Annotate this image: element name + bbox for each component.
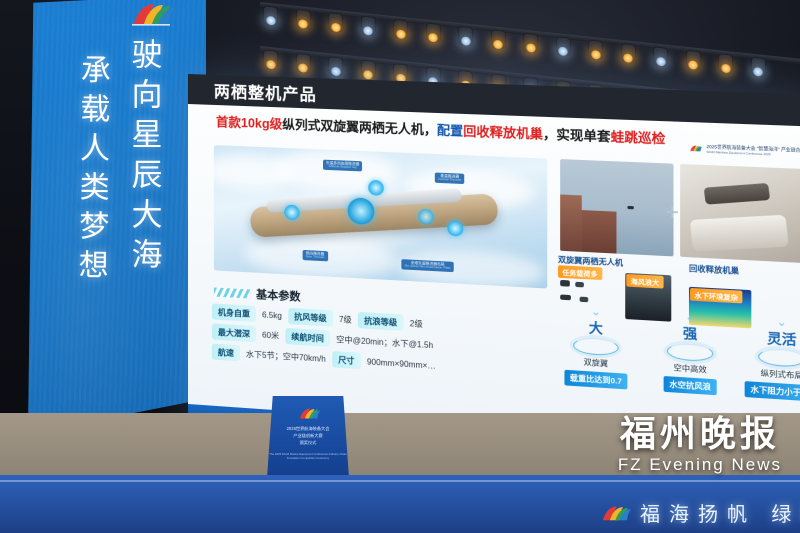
spotlight-icon: [524, 34, 537, 52]
conference-logo-icon: [124, 2, 176, 28]
pillar-slogan-right: 驶向星辰大海: [122, 38, 167, 434]
plus-icon: ✛: [666, 203, 679, 222]
caption-nest: 回收释放机巢: [689, 263, 739, 277]
spotlight-icon: [589, 41, 602, 59]
spotlight-icon: [427, 23, 440, 41]
slide-title: 两栖整机产品: [214, 78, 317, 106]
callout-attitude-thruster: 矢量多自由度推进器 Attitude Bogster leg: [323, 160, 362, 172]
param-value: 60米: [256, 329, 285, 342]
pillar-slogan-left: 承载人类梦想: [66, 54, 114, 434]
ripple-icon: [758, 348, 800, 368]
spotlight-icon: [362, 61, 375, 79]
subtitle-part-2: 纵列式双旋翼两栖无人机，: [282, 118, 437, 138]
payload-icon: [580, 297, 589, 303]
param-label: 机身自重: [212, 303, 256, 322]
slide-conference-badge: 2025世界航海装备大会 "智慧海洋" 产业链合力大赛 World Mariti…: [687, 141, 800, 161]
payload-icon: [560, 280, 570, 287]
hatch-decoration-icon: [214, 287, 250, 298]
spotlight-icon: [264, 6, 277, 24]
landing-pad-shape: [690, 215, 789, 252]
benefit-chip: 载重比达到0.7: [565, 370, 628, 390]
spotlight-icon: [654, 47, 667, 65]
tag-sea-wind: 海风浪大: [626, 274, 663, 289]
param-value: 水下5节；空中70km/h: [240, 348, 332, 365]
drone-mid-thruster: [418, 209, 434, 225]
pillar-slogan: 驶向星辰大海 承载人类梦想: [28, 0, 206, 434]
payload-icon: [575, 282, 584, 288]
spotlight-icon: [329, 57, 342, 75]
benefit-subtitle: 空中高效: [645, 360, 736, 377]
param-label: 抗浪等级: [358, 312, 404, 331]
drone-vertical-thruster: [368, 180, 384, 196]
param-label: 续航时间: [285, 328, 330, 347]
param-label: 尺寸: [332, 351, 361, 369]
benefit-chip: 水空抗风浪: [664, 376, 717, 395]
subtitle-part-3: 配置: [437, 123, 463, 138]
subtitle-part-5: ，实现单套: [543, 127, 611, 144]
callout-en: Attitude Bogster leg: [326, 165, 359, 170]
left-led-pillar: 驶向星辰大海 承载人类梦想: [28, 0, 206, 434]
stage-front-led: 福海扬帆 绿动: [0, 475, 800, 533]
conference-logo-icon: [596, 499, 632, 529]
watermark: 福州晚报 FZ Evening News: [618, 405, 782, 475]
benefit-headline: 灵活: [736, 325, 800, 351]
spotlight-icon: [687, 51, 700, 69]
drone-side-thruster: [284, 205, 299, 221]
benefit-headline: 大: [552, 315, 641, 340]
sea-inspection-photo: [560, 159, 673, 256]
param-value: 空中@20min；水下@1.5h: [330, 333, 439, 351]
spotlight-icon: [297, 10, 310, 28]
watermark-cn: 福州晚报: [618, 405, 782, 457]
benefit-subtitle: 双旋翼: [552, 354, 641, 371]
callout-vertical-thruster: 垂直推进器 Vertical Thruster: [435, 172, 465, 184]
spotlight-icon: [362, 17, 375, 35]
subtitle-part-4: 回收释放机巢: [463, 124, 543, 142]
flying-drone-dot: [627, 206, 634, 209]
payload-icon: [560, 294, 571, 300]
subtitle-part-6: 蛙跳巡检: [611, 130, 666, 147]
subtitle-part-1: 首款10kg级: [216, 115, 282, 132]
conference-logo-icon: [687, 141, 702, 156]
param-value: 2级: [404, 317, 430, 330]
spotlight-icon: [752, 58, 765, 76]
drone-product-photo: 矢量多自由度推进器 Attitude Bogster leg 垂直推进器 Ver…: [214, 145, 547, 289]
podium-line-2: 产业链创新大赛: [266, 433, 350, 439]
benefit-column-1: ⌄ 大 双旋翼 载重比达到0.7: [552, 304, 641, 390]
callout-side-thruster: 侧向推进器 Side Thruster: [303, 250, 328, 262]
spotlight-icon: [719, 54, 732, 72]
building-shape: [560, 194, 582, 251]
drone-rotor: [348, 197, 375, 225]
params-heading-text: 基本参数: [256, 286, 301, 305]
ripple-icon: [573, 337, 619, 356]
callout-en: Side Thruster: [306, 256, 325, 261]
benefit-headline: 强: [645, 320, 736, 345]
benefit-column-2: ⌄ 强 空中高效 水空抗风浪: [645, 310, 736, 397]
param-value: 900mm×90mm×…: [361, 356, 442, 370]
conference-logo-icon: [295, 404, 321, 424]
podium-line-en: The 2025 World Marine Equipment Conferen…: [266, 452, 350, 460]
podium-line-1: 2025世界航海装备大会: [266, 426, 350, 432]
spotlight-icon: [557, 37, 570, 55]
drone-rear-thruster: [447, 220, 463, 236]
param-value: 6.5kg: [256, 309, 288, 320]
podium-line-3: 颁奖仪式: [266, 440, 350, 446]
watermark-en: FZ Evening News: [618, 455, 782, 475]
stage-front-led-text: 福海扬帆 绿动: [640, 498, 800, 527]
param-label: 航速: [212, 343, 240, 361]
ripple-icon: [667, 342, 713, 362]
param-value: 7级: [333, 313, 358, 326]
params-table: 机身自重 6.5kg 抗风等级 7级 抗浪等级 2级 最大潜深 60米 续航时间…: [212, 301, 554, 383]
spotlight-icon: [622, 44, 635, 62]
robot-arm-shape: [704, 183, 771, 205]
callout-en: Vertical Thruster: [438, 178, 462, 183]
spotlight-icon: [394, 64, 407, 82]
spotlight-icon: [297, 54, 310, 72]
stage-photo: 驶向星辰大海 承载人类梦想 两栖整机产品 首款10kg级纵列式双旋翼两栖无人机，…: [0, 0, 800, 533]
benefit-chip: 水下阻力小于0.4: [745, 381, 800, 402]
spotlight-icon: [329, 13, 342, 31]
spotlight-icon: [492, 30, 505, 48]
spotlight-icon: [264, 50, 277, 68]
spotlight-icon: [394, 20, 407, 38]
spotlight-icon: [459, 27, 472, 45]
param-label: 抗风等级: [288, 308, 333, 327]
param-label: 最大潜深: [212, 323, 256, 342]
benefit-column-3: ⌄ 灵活 纵列式布局 水下阻力小于0.4: [736, 315, 800, 403]
recovery-nest-photo: [680, 164, 800, 263]
tag-payload: 任务载荷多: [558, 265, 602, 280]
